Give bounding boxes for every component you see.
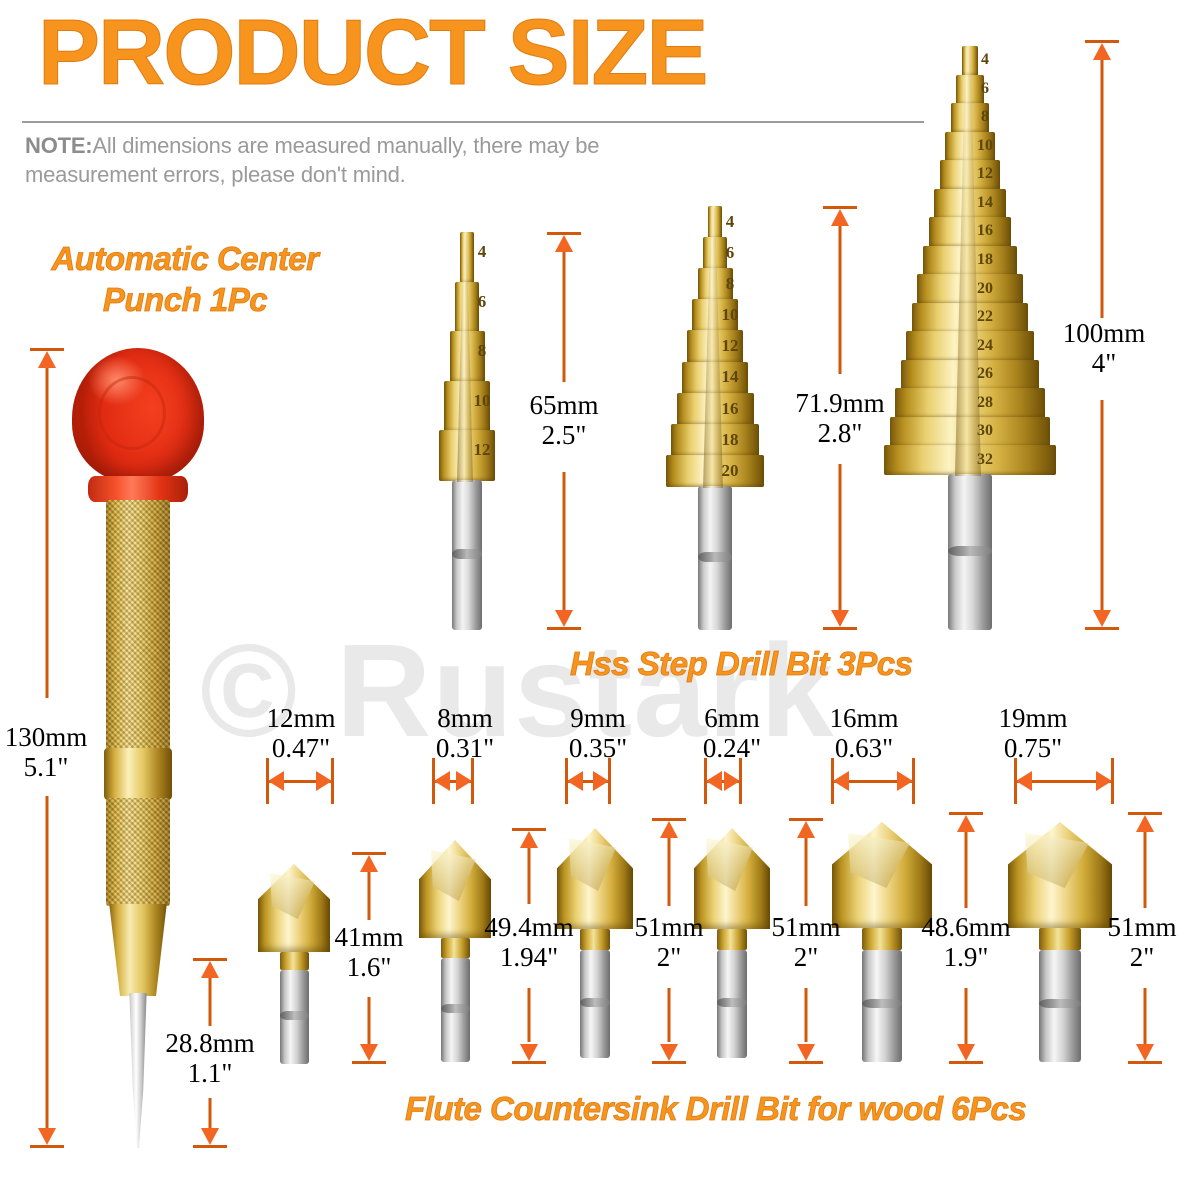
value-inch: 1.9": [884, 942, 1048, 972]
value-mm: 71.9mm: [795, 388, 884, 418]
section-heading-punch: Automatic Center Punch 1Pc: [10, 238, 360, 321]
value-mm: 130mm: [5, 722, 88, 752]
value-inch: 1.6": [287, 952, 451, 982]
punch-taper: [108, 904, 168, 996]
tick-bottom: [652, 1061, 686, 1064]
arrowhead-left: [268, 771, 284, 791]
arrowhead-up: [520, 831, 538, 848]
arrowhead-up: [660, 821, 678, 838]
section-heading-step-drill: Hss Step Drill Bit 3Pcs: [570, 645, 912, 683]
shaft-lower: [368, 997, 371, 1044]
shaft-lower: [46, 796, 49, 1128]
arrowhead-left: [434, 771, 450, 791]
arrowhead-down: [797, 1044, 815, 1061]
tick-bottom: [30, 1145, 64, 1148]
arrowhead-left: [833, 771, 849, 791]
arrowhead-up: [1136, 815, 1154, 832]
dim-label-punch-length: 130mm 5.1": [0, 722, 128, 782]
dim-arrow-width-6mm: [704, 758, 742, 804]
shank-notch: [580, 998, 610, 1007]
dim-arrow-width-9mm: [565, 758, 611, 804]
arrowhead-down: [38, 1128, 56, 1145]
value-mm: 51mm: [1107, 912, 1176, 942]
shaft-upper: [965, 832, 968, 908]
dim-label-step1-length: 65mm 2.5": [482, 390, 646, 450]
value-mm: 6mm: [704, 703, 760, 733]
shaft-upper: [209, 978, 212, 1026]
tick-bottom: [1128, 1061, 1162, 1064]
dim-label-width-12mm: 12mm 0.47": [219, 703, 383, 763]
arrowhead-up: [797, 821, 815, 838]
shaft-lower: [668, 988, 671, 1042]
shaft-lower: [528, 988, 531, 1042]
arrowhead-up: [201, 961, 219, 978]
shaft-upper: [563, 252, 566, 382]
tick-bottom: [352, 1061, 386, 1064]
arrowhead-right: [316, 771, 332, 791]
step-drill-bit-medium: 468101214161820: [660, 206, 770, 630]
shank-notch: [717, 998, 747, 1007]
value-mm: 19mm: [998, 703, 1067, 733]
value-inch: 5.1": [0, 752, 128, 782]
tick-bottom: [1085, 627, 1119, 630]
dim-label-cs6-length: 51mm 2": [1060, 912, 1200, 972]
hex-shank: [452, 480, 482, 630]
value-inch: 2": [724, 942, 888, 972]
value-mm: 65mm: [529, 390, 598, 420]
arrowhead-down: [660, 1044, 678, 1061]
value-mm: 16mm: [829, 703, 898, 733]
tick-bottom: [512, 1061, 546, 1064]
hex-shank: [698, 486, 732, 630]
shaft-upper: [46, 368, 49, 698]
section-heading-countersink: Flute Countersink Drill Bit for wood 6Pc…: [405, 1090, 1026, 1128]
arrowhead-up: [1093, 43, 1111, 60]
dim-arrow-width-8mm: [432, 758, 474, 804]
dim-label-width-16mm: 16mm 0.63": [782, 703, 946, 763]
arrowhead-down: [1136, 1044, 1154, 1061]
note-label: NOTE:: [25, 133, 92, 158]
value-inch: 1.1": [128, 1058, 292, 1088]
shaft-lower: [209, 1098, 212, 1128]
shaft-lower: [1101, 400, 1104, 610]
value-inch: 2.8": [758, 418, 922, 448]
shaft-lower: [965, 988, 968, 1044]
value-inch: 2.5": [482, 420, 646, 450]
hex-shank: [948, 474, 992, 630]
value-mm: 100mm: [1063, 318, 1146, 348]
value-mm: 28.8mm: [165, 1028, 254, 1058]
value-mm: 8mm: [437, 703, 493, 733]
value-mm: 51mm: [634, 912, 703, 942]
value-mm: 12mm: [266, 703, 335, 733]
arrowhead-up: [957, 815, 975, 832]
value-inch: 0.75": [951, 733, 1115, 763]
note-body: All dimensions are measured manually, th…: [25, 133, 599, 187]
tick-bottom: [823, 627, 857, 630]
title-divider: [22, 121, 924, 123]
arrowhead-right: [1096, 771, 1112, 791]
value-mm: 51mm: [771, 912, 840, 942]
shaft-lower: [805, 988, 808, 1042]
shank-notch: [441, 1004, 470, 1013]
shaft-lower: [1144, 988, 1147, 1044]
arrowhead-down: [520, 1044, 538, 1061]
tick-bottom: [789, 1061, 823, 1064]
shaft-upper: [805, 838, 808, 906]
punch-knurled-upper: [106, 500, 170, 750]
shaft-upper: [528, 848, 531, 904]
dim-label-width-19mm: 19mm 0.75": [951, 703, 1115, 763]
note-text: NOTE:All dimensions are measured manuall…: [25, 131, 625, 189]
shaft-lower: [563, 472, 566, 610]
arrowhead-up: [555, 235, 573, 252]
dim-arrow-width-12mm: [266, 758, 334, 804]
product-size-infographic: PRODUCT SIZE NOTE:All dimensions are mea…: [0, 0, 1200, 1200]
shaft-upper: [368, 872, 371, 920]
arrowhead-right: [456, 771, 472, 791]
dim-label-cs5-length: 48.6mm 1.9": [884, 912, 1048, 972]
tick-bottom: [949, 1061, 983, 1064]
tick-bottom: [547, 627, 581, 630]
arrowhead-left: [567, 771, 583, 791]
value-mm: 48.6mm: [921, 912, 1010, 942]
shank-notch: [948, 546, 992, 556]
arrowhead-down: [957, 1044, 975, 1061]
punch-collar: [88, 476, 188, 502]
arrowhead-down: [555, 610, 573, 627]
shank-notch: [452, 549, 482, 559]
dim-label-cs4-length: 51mm 2": [724, 912, 888, 972]
shank-notch: [1039, 999, 1081, 1008]
arrowhead-down: [831, 610, 849, 627]
value-inch: 2": [1060, 942, 1200, 972]
arrowhead-up: [38, 351, 56, 368]
dim-label-step3-length: 100mm 4": [1022, 318, 1186, 378]
arrowhead-down: [360, 1044, 378, 1061]
dim-arrow-width-19mm: [1014, 758, 1114, 804]
shaft-lower: [839, 464, 842, 610]
arrowhead-up: [831, 209, 849, 226]
value-mm: 9mm: [570, 703, 626, 733]
value-inch: 4": [1022, 348, 1186, 378]
tick-bottom: [193, 1145, 227, 1148]
dim-label-cs1-length: 41mm 1.6": [287, 922, 451, 982]
shank-notch: [698, 552, 732, 562]
arrowhead-down: [1093, 610, 1111, 627]
shaft-upper: [1144, 832, 1147, 908]
dim-label-punch-tip: 28.8mm 1.1": [128, 1028, 292, 1088]
value-mm: 41mm: [334, 922, 403, 952]
shaft-upper: [668, 838, 671, 906]
value-inch: 0.63": [782, 733, 946, 763]
arrowhead-up: [360, 855, 378, 872]
shank-notch: [280, 1011, 309, 1020]
page-title: PRODUCT SIZE: [38, 6, 706, 99]
punch-knurled-lower: [106, 798, 170, 906]
arrowhead-down: [201, 1128, 219, 1145]
shaft-upper: [1101, 60, 1104, 318]
arrowhead-left: [1016, 771, 1032, 791]
arrowhead-right: [593, 771, 609, 791]
arrowhead-right: [724, 771, 740, 791]
dim-arrow-width-16mm: [831, 758, 915, 804]
arrowhead-left: [706, 771, 722, 791]
value-inch: 0.47": [219, 733, 383, 763]
value-mm: 49.4mm: [484, 912, 573, 942]
punch-red-cap: [72, 348, 204, 483]
shank-notch: [862, 999, 902, 1008]
shaft-upper: [839, 226, 842, 374]
dim-label-step2-length: 71.9mm 2.8": [758, 388, 922, 448]
arrowhead-right: [897, 771, 913, 791]
